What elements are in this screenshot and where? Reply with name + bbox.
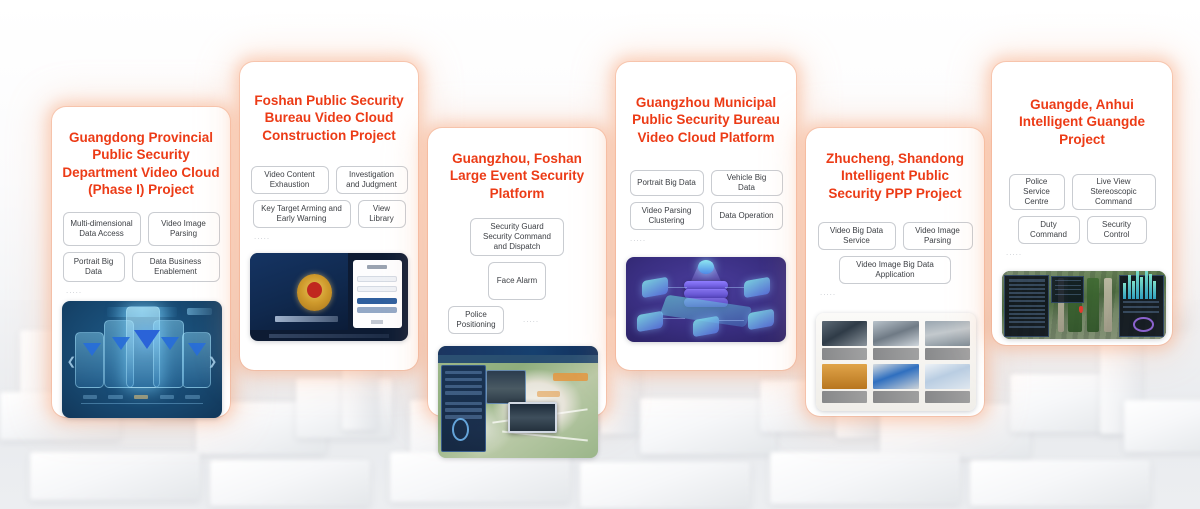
card-thumbnail-video-cloud-carousel-dashboard[interactable]: ❮ ❯ [62,301,222,418]
card-tag[interactable]: Video Content Exhaustion [251,166,329,194]
card-tag[interactable]: Data Operation [711,202,783,230]
card-tag[interactable]: Police Positioning [448,306,504,334]
card-tag-list: Multi-dimensional Data Access Video Imag… [62,212,220,282]
card-tag[interactable]: View Library [358,200,406,228]
card-thumbnail-isometric-cloud-server-illustration[interactable] [626,257,786,342]
card-ellipsis: ..... [62,286,82,295]
project-card-guangzhou-municipal[interactable]: Guangzhou Municipal Public Security Bure… [616,62,796,370]
project-cards-strip: Guangdong Provincial Public Security Dep… [0,0,1200,509]
card-ellipsis: ..... [626,234,646,243]
card-thumbnail-aerial-satellite-analytics-view[interactable] [1002,271,1166,339]
card-title: Zhucheng, Shandong Intelligent Public Se… [816,150,974,202]
card-ellipsis: ..... [816,288,836,297]
card-tag[interactable]: Vehicle Big Data [711,170,783,196]
card-tag[interactable]: Police Service Centre [1009,174,1065,210]
card-title: Guangdong Provincial Public Security Dep… [62,129,220,198]
card-ellipsis: ..... [250,232,270,241]
card-title: Guangzhou, Foshan Large Event Security P… [438,150,596,202]
card-tag[interactable]: Video Image Parsing [903,222,973,250]
card-tag[interactable]: Video Big Data Service [818,222,896,250]
card-thumbnail-traffic-application-photo-grid[interactable] [816,313,976,411]
card-tag-list: Police Service Centre Live View Stereosc… [1002,174,1162,244]
card-tag-list: Video Big Data Service Video Image Parsi… [816,222,974,284]
card-tag[interactable]: Multi-dimensional Data Access [63,212,141,246]
card-ellipsis: ..... [1002,248,1022,257]
card-tag[interactable]: Live View Stereoscopic Command [1072,174,1156,210]
card-title: Guangde, Anhui Intelligent Guangde Proje… [1002,96,1162,148]
card-tag[interactable]: Data Business Enablement [132,252,220,282]
card-tag-list: Portrait Big Data Vehicle Big Data Video… [626,170,786,230]
card-tag[interactable]: Security Guard Security Command and Disp… [470,218,564,256]
card-tag[interactable]: Video Image Big Data Application [839,256,951,284]
card-tag[interactable]: Portrait Big Data [63,252,125,282]
card-tag[interactable]: Face Alarm [488,262,546,300]
card-ellipsis: ..... [519,315,539,324]
card-tag[interactable]: Video Image Parsing [148,212,220,246]
project-card-guangde-anhui[interactable]: Guangde, Anhui Intelligent Guangde Proje… [992,62,1172,345]
card-title: Foshan Public Security Bureau Video Clou… [250,92,408,144]
project-card-zhucheng-shandong[interactable]: Zhucheng, Shandong Intelligent Public Se… [806,128,984,416]
project-card-guangdong-provincial[interactable]: Guangdong Provincial Public Security Dep… [52,107,230,417]
card-tag-list: Video Content Exhaustion Investigation a… [250,166,408,228]
card-tag[interactable]: Portrait Big Data [630,170,704,196]
card-title: Guangzhou Municipal Public Security Bure… [626,94,786,146]
project-card-foshan-public-security[interactable]: Foshan Public Security Bureau Video Clou… [240,62,418,370]
card-thumbnail-stadium-3d-map-command-console[interactable] [438,346,598,458]
card-tag[interactable]: Key Target Arming and Early Warning [253,200,351,228]
card-tag[interactable]: Investigation and Judgment [336,166,408,194]
project-card-guangzhou-foshan-large-event[interactable]: Guangzhou, Foshan Large Event Security P… [428,128,606,416]
card-thumbnail-police-portal-login-page[interactable] [250,253,408,341]
card-tag[interactable]: Duty Command [1018,216,1080,244]
card-tag[interactable]: Security Control [1087,216,1147,244]
card-tag-list: Security Guard Security Command and Disp… [438,218,596,300]
card-tag[interactable]: Video Parsing Clustering [630,202,704,230]
